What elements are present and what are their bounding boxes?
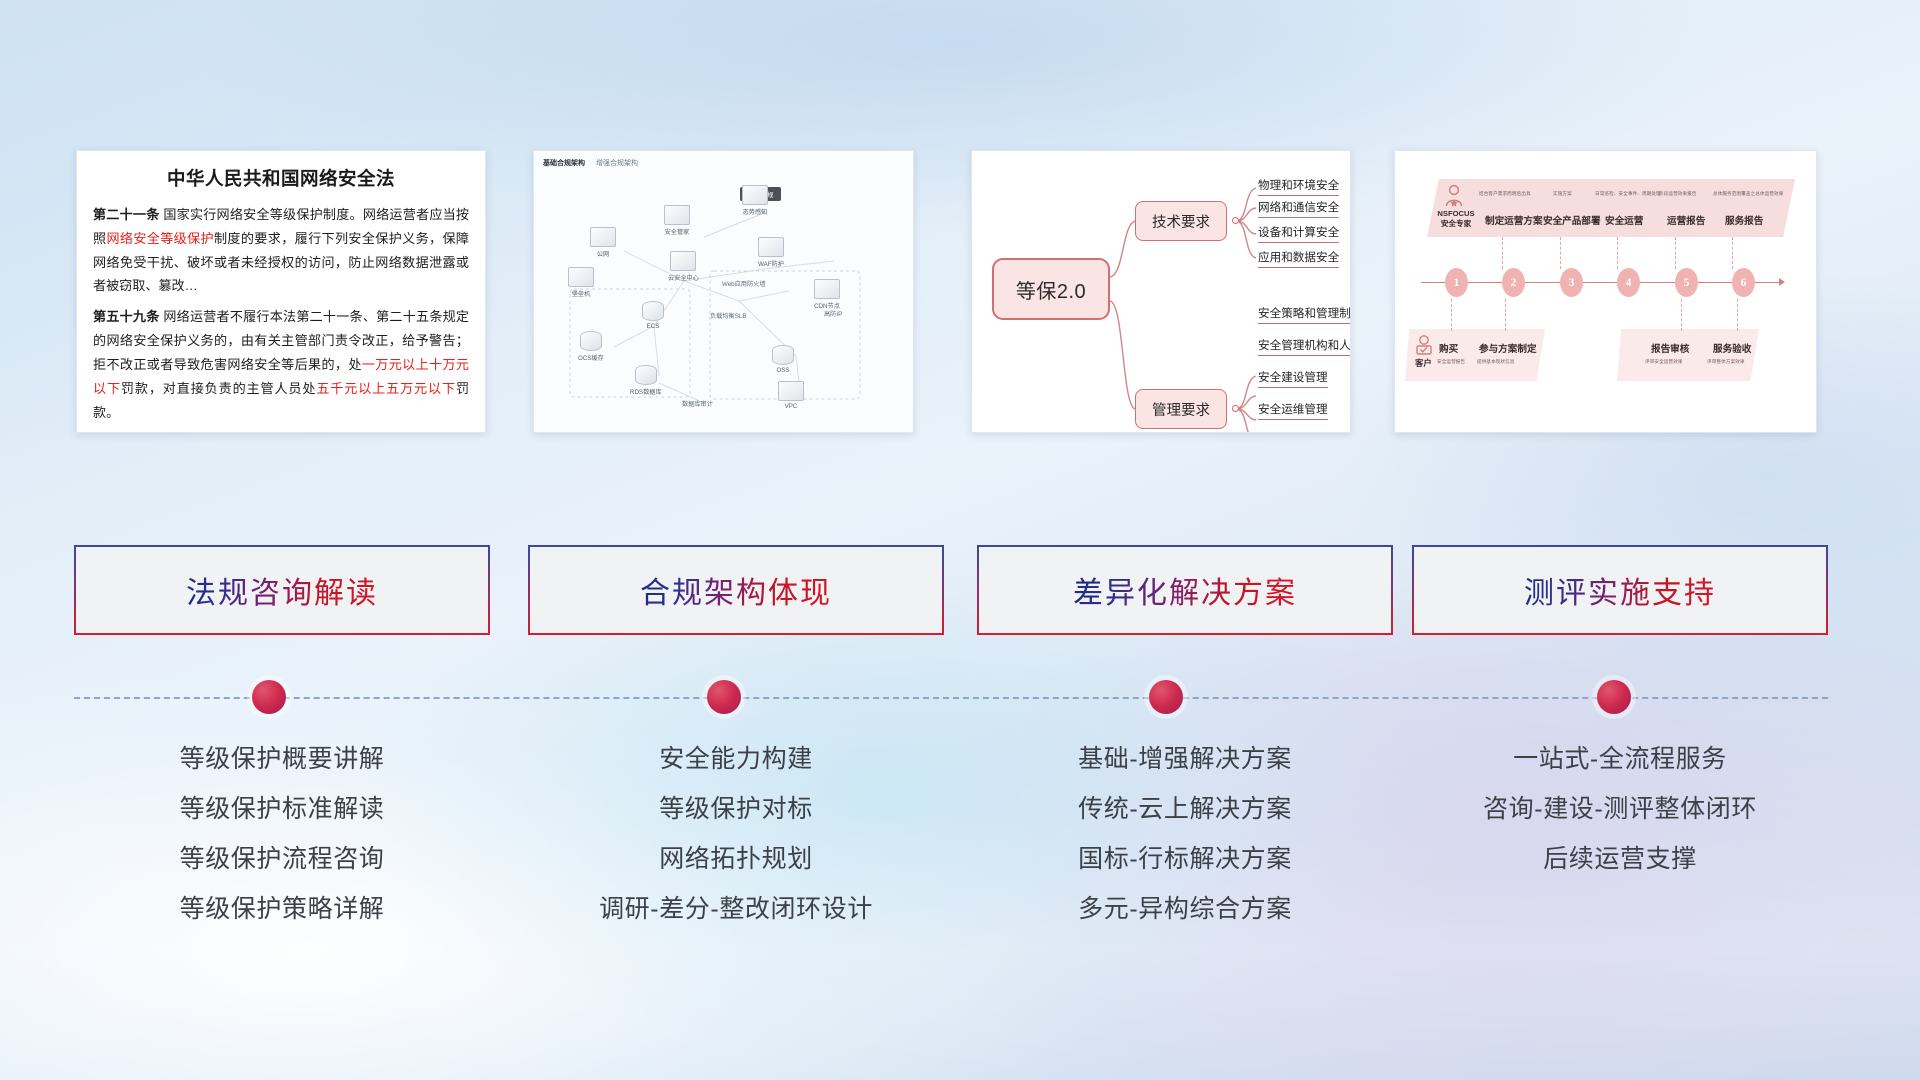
- timeline-step-node[interactable]: 4: [1617, 268, 1640, 297]
- mindmap-leaf: 物理和环境安全: [1258, 177, 1339, 196]
- step-main-label: 服务验收: [1713, 341, 1751, 355]
- step-sub-label: 评审整体方案效果: [1707, 359, 1745, 365]
- step-main-label: 服务报告: [1725, 213, 1763, 227]
- mindmap-leaf: 安全运维管理: [1258, 401, 1328, 420]
- illustration-card-row: 中华人民共和国网络安全法 第二十一条 国家实行网络安全等级保护制度。网络运营者应…: [0, 150, 1920, 435]
- node-cylinder-icon: [642, 301, 664, 321]
- step-sub-label: 结合客户需求而明后出具: [1479, 191, 1531, 197]
- node-shape-icon: [814, 279, 840, 299]
- step-main-label: 安全运营: [1605, 213, 1643, 227]
- section-heading-box-3[interactable]: 差异化解决方案: [977, 545, 1393, 635]
- architecture-node: 堡垒机: [568, 267, 594, 298]
- dengbao-mindmap-card[interactable]: 等保2.0 技术要求 物理和环境安全 网络和通信安全 设备和计算安全 应用和数据…: [971, 150, 1351, 433]
- step-main-label: 参与方案制定: [1479, 341, 1537, 355]
- law-article-number-21: 第二十一条: [93, 207, 160, 222]
- law-paragraph-21: 第二十一条 国家实行网络安全等级保护制度。网络运营者应当按照网络安全等级保护制度…: [93, 203, 469, 298]
- timeline-step-node[interactable]: 2: [1502, 268, 1525, 297]
- node-shape-icon: [568, 267, 594, 287]
- law-title: 中华人民共和国网络安全法: [93, 165, 469, 191]
- section-heading-label: 合规架构体现: [640, 568, 832, 612]
- mindmap-diagram: 等保2.0 技术要求 物理和环境安全 网络和通信安全 设备和计算安全 应用和数据…: [972, 151, 1350, 432]
- node-shape-icon: [778, 381, 804, 401]
- step-sub-label: 评审安全运营效果: [1645, 359, 1683, 365]
- rail-marker-2[interactable]: [707, 680, 741, 714]
- architecture-node: 云安全中心: [668, 251, 699, 282]
- timeline-step-node[interactable]: 5: [1675, 268, 1698, 297]
- step-main-label: 安全产品部署: [1543, 213, 1601, 227]
- step-main-label: 制定运营方案: [1485, 213, 1543, 227]
- architecture-node: VPC: [778, 381, 804, 410]
- expert-avatar-icon: [1441, 183, 1467, 209]
- step-sub-label: 提供基本现状信息: [1477, 359, 1515, 365]
- detail-item: 传统-云上解决方案: [977, 784, 1393, 834]
- architecture-node: OCS缓存: [578, 331, 604, 362]
- step-sub-label: 安全运营报告: [1437, 359, 1465, 365]
- detail-item: 国标-行标解决方案: [977, 834, 1393, 884]
- node-cylinder-icon: [772, 345, 794, 365]
- connector-dash: [1560, 237, 1561, 269]
- mindmap-collapse-icon[interactable]: [1232, 217, 1239, 224]
- detail-item: 网络拓扑规划: [528, 834, 944, 884]
- cloud-architecture-card[interactable]: 基础合规架构 增强合规架构 安全合规: [533, 150, 914, 433]
- node-shape-icon: [758, 237, 784, 257]
- detail-item: 后续运营支撑: [1412, 834, 1828, 884]
- section-heading-label: 测评实施支持: [1524, 568, 1716, 612]
- step-sub-label: 日常巡检、安全事件、周期处理: [1595, 191, 1661, 197]
- rail-dashed-line: [74, 697, 1828, 699]
- detail-item: 基础-增强解决方案: [977, 734, 1393, 784]
- mindmap-branch-management: 管理要求: [1135, 389, 1227, 429]
- step-sub-label: 阶段运营效果报告: [1659, 191, 1697, 197]
- mindmap-leaf: 安全建设管理: [1258, 369, 1328, 388]
- detail-item: 安全能力构建: [528, 734, 944, 784]
- architecture-node: OSS: [772, 345, 794, 374]
- step-main-label: 运营报告: [1667, 213, 1705, 227]
- detail-column-3: 基础-增强解决方案 传统-云上解决方案 国标-行标解决方案 多元-异构综合方案: [977, 734, 1393, 934]
- detail-item: 多元-异构综合方案: [977, 884, 1393, 934]
- brand-line-2: 安全专家: [1429, 219, 1483, 229]
- step-main-label: 报告审核: [1651, 341, 1689, 355]
- mindmap-leaf: 安全策略和管理制度: [1258, 305, 1351, 324]
- section-heading-row: 法规咨询解读 合规架构体现 差异化解决方案 测评实施支持: [0, 545, 1920, 637]
- rail-marker-4[interactable]: [1597, 680, 1631, 714]
- rail-marker-3[interactable]: [1149, 680, 1183, 714]
- rail-marker-1[interactable]: [252, 680, 286, 714]
- timeline-rail: [0, 676, 1920, 720]
- detail-column-4: 一站式-全流程服务 咨询-建设-测评整体闭环 后续运营支撑: [1412, 734, 1828, 884]
- architecture-diagram: 基础合规架构 增强合规架构 安全合规: [534, 151, 913, 432]
- architecture-label: 高防IP: [824, 309, 842, 318]
- law-article-number-59: 第五十九条: [93, 309, 160, 324]
- mindmap-branch-technical: 技术要求: [1135, 201, 1227, 241]
- timeline-axis: [1421, 282, 1781, 283]
- architecture-node: 态势感知: [742, 185, 768, 216]
- brand-line-1: NSFOCUS: [1429, 209, 1483, 219]
- mindmap-collapse-icon[interactable]: [1232, 405, 1239, 412]
- architecture-node: RDS数据库: [630, 365, 662, 396]
- section-heading-box-4[interactable]: 测评实施支持: [1412, 545, 1828, 635]
- node-shape-icon: [664, 205, 690, 225]
- cybersecurity-law-card[interactable]: 中华人民共和国网络安全法 第二十一条 国家实行网络安全等级保护制度。网络运营者应…: [76, 150, 486, 433]
- timeline-step-node[interactable]: 3: [1560, 268, 1583, 297]
- detail-item: 等级保护策略详解: [74, 884, 490, 934]
- connector-dash: [1737, 299, 1738, 331]
- connector-dash: [1502, 237, 1503, 269]
- connector-dash: [1675, 237, 1676, 269]
- detail-item: 咨询-建设-测评整体闭环: [1412, 784, 1828, 834]
- architecture-node: ECS: [642, 301, 664, 330]
- nsfocus-brand-label: NSFOCUS 安全专家: [1429, 209, 1483, 230]
- node-cylinder-icon: [580, 331, 602, 351]
- step-sub-label: 总体服务范围覆盖之总体运营效果: [1713, 191, 1783, 197]
- architecture-node: 安全管家: [664, 205, 690, 236]
- law-body: 中华人民共和国网络安全法 第二十一条 国家实行网络安全等级保护制度。网络运营者应…: [77, 151, 485, 433]
- detail-column-1: 等级保护概要讲解 等级保护标准解读 等级保护流程咨询 等级保护策略详解: [74, 734, 490, 934]
- mindmap-leaf: 安全管理机构和人员: [1258, 337, 1351, 356]
- section-heading-box-1[interactable]: 法规咨询解读: [74, 545, 490, 635]
- detail-item: 等级保护标准解读: [74, 784, 490, 834]
- law-paragraph-59: 第五十九条 网络运营者不履行本法第二十一条、第二十五条规定的网络安全保护义务的，…: [93, 305, 469, 424]
- law-run-highlight: 五千元以上五万元以下: [316, 381, 456, 396]
- node-shape-icon: [742, 185, 768, 205]
- section-heading-label: 差异化解决方案: [1073, 568, 1297, 612]
- mindmap-root-node: 等保2.0: [992, 258, 1110, 320]
- nsfocus-operation-timeline-card[interactable]: NSFOCUS 安全专家 结合客户需求而明后出具 制定运营方案 实施方案 安全产…: [1394, 150, 1817, 433]
- mindmap-leaf: 应用和数据安全: [1258, 249, 1339, 268]
- node-shape-icon: [590, 227, 616, 247]
- node-shape-icon: [670, 251, 696, 271]
- timeline-step-node[interactable]: 6: [1732, 268, 1755, 297]
- architecture-label: Web应用防火墙: [722, 279, 766, 288]
- architecture-node: WAF防护: [758, 237, 784, 268]
- connector-dash: [1617, 237, 1618, 269]
- mindmap-leaf: 设备和计算安全: [1258, 224, 1339, 243]
- architecture-node: CDN节点: [814, 279, 840, 310]
- architecture-node: 公网: [590, 227, 616, 258]
- connector-dash: [1732, 237, 1733, 269]
- timeline-step-node[interactable]: 1: [1445, 268, 1468, 297]
- detail-item: 调研-差分-整改闭环设计: [528, 884, 944, 934]
- step-sub-label: 实施方案: [1553, 191, 1572, 197]
- nsfocus-timeline-diagram: NSFOCUS 安全专家 结合客户需求而明后出具 制定运营方案 实施方案 安全产…: [1395, 151, 1816, 432]
- connector-dash: [1681, 299, 1682, 331]
- customer-band-right: [1617, 329, 1759, 381]
- detail-item: 一站式-全流程服务: [1412, 734, 1828, 784]
- connector-dash: [1451, 299, 1452, 331]
- law-run: 罚款，对直接负责的主管人员处: [121, 381, 316, 396]
- detail-item: 等级保护概要讲解: [74, 734, 490, 784]
- detail-column-2: 安全能力构建 等级保护对标 网络拓扑规划 调研-差分-整改闭环设计: [528, 734, 944, 934]
- section-detail-columns: 等级保护概要讲解 等级保护标准解读 等级保护流程咨询 等级保护策略详解 安全能力…: [0, 734, 1920, 964]
- law-run-highlight: 网络安全等级保护: [106, 231, 214, 246]
- detail-item: 等级保护对标: [528, 784, 944, 834]
- detail-item: 等级保护流程咨询: [74, 834, 490, 884]
- step-main-label: 购买: [1439, 341, 1458, 355]
- customer-label: 客户: [1415, 357, 1432, 369]
- mindmap-leaf: 网络和通信安全: [1258, 199, 1339, 218]
- timeline-arrow-icon: [1779, 278, 1785, 286]
- architecture-label: 负载均衡SLB: [710, 311, 746, 320]
- connector-dash: [1505, 299, 1506, 331]
- section-heading-label: 法规咨询解读: [186, 568, 378, 612]
- architecture-label: 数据库审计: [682, 399, 713, 408]
- node-cylinder-icon: [635, 365, 657, 385]
- customer-avatar-icon: [1413, 333, 1435, 357]
- section-heading-box-2[interactable]: 合规架构体现: [528, 545, 944, 635]
